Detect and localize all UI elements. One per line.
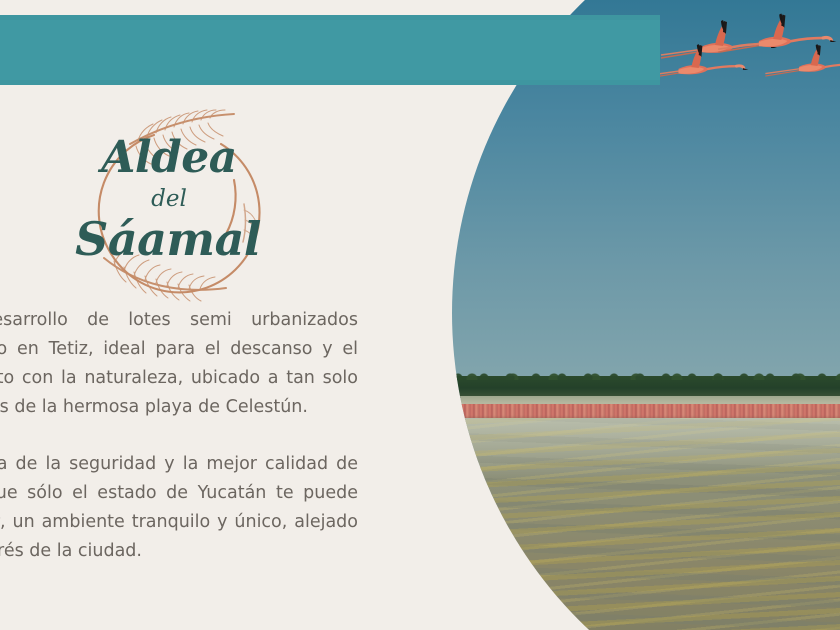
mangrove-treeline <box>452 376 840 398</box>
photo-content <box>452 0 840 630</box>
header-banner <box>0 15 660 85</box>
water-glint <box>452 418 840 478</box>
body-copy: Un desarrollo de lotes semi urbanizados … <box>0 306 358 566</box>
header-banner-highlight <box>0 20 660 80</box>
logo-line-aldea: Aldea <box>84 136 254 180</box>
logo-line-del: del <box>84 188 254 211</box>
paragraph-1: Un desarrollo de lotes semi urbanizados … <box>0 306 358 422</box>
logo-line-saamal: Sáamal <box>68 216 268 262</box>
paragraph-2: Disfruta de la seguridad y la mejor cali… <box>0 450 358 566</box>
hero-photo <box>452 0 840 630</box>
slide-canvas: Aldea del Sáamal Un desarrollo de lotes … <box>0 0 840 630</box>
brand-logo: Aldea del Sáamal <box>58 108 268 303</box>
flamingo-flock-band <box>452 404 840 419</box>
